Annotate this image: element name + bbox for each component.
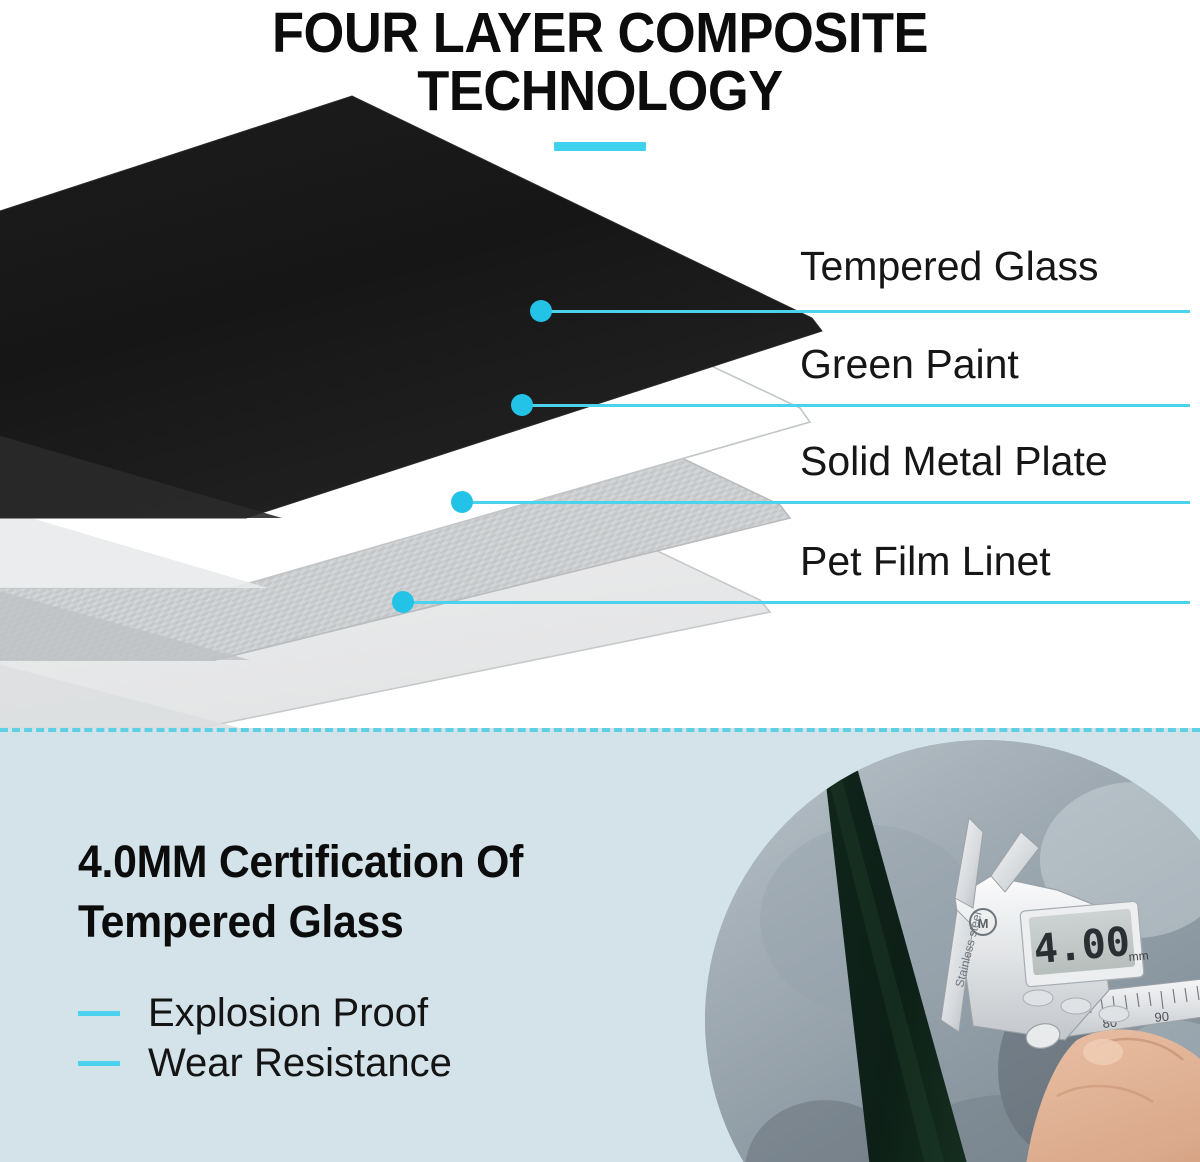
callout-dot-1: [530, 300, 552, 322]
certification-section: 4.0MM Certification Of Tempered Glass Ex…: [0, 728, 1200, 1162]
certification-heading-line-2: Tempered Glass: [78, 892, 667, 952]
feature-list: Explosion Proof Wear Resistance: [78, 988, 698, 1088]
callout-label-3: Solid Metal Plate: [800, 438, 1108, 484]
feature-item: Explosion Proof: [78, 988, 698, 1038]
callout-leader-line-1: [541, 310, 1190, 313]
callout-leader-line-4: [403, 601, 1190, 604]
certification-heading-line-1: 4.0MM Certification Of: [78, 832, 667, 892]
callout-label-1: Tempered Glass: [800, 243, 1099, 289]
callout-dot-4: [392, 591, 414, 613]
callout-label-2: Green Paint: [800, 341, 1019, 387]
dashed-divider: [0, 728, 1200, 732]
caliper-reading-value: 4.00: [1032, 919, 1132, 973]
callout-dot-3: [451, 491, 473, 513]
caliper-photo: 80 90 100 M Stainless steel: [705, 740, 1200, 1162]
product-infographic: FOUR LAYER COMPOSITE TECHNOLOGY Tempered…: [0, 0, 1200, 1162]
dash-marker-icon: [78, 1061, 120, 1066]
feature-label-2: Wear Resistance: [148, 1040, 452, 1086]
feature-label-1: Explosion Proof: [148, 990, 428, 1036]
four-layer-section: FOUR LAYER COMPOSITE TECHNOLOGY Tempered…: [0, 0, 1200, 728]
layer-callouts: Tempered Glass Green Paint Solid Metal P…: [0, 0, 1200, 728]
certification-copy: 4.0MM Certification Of Tempered Glass Ex…: [78, 832, 698, 1088]
dash-marker-icon: [78, 1011, 120, 1016]
callout-label-4: Pet Film Linet: [800, 538, 1051, 584]
svg-text:90: 90: [1154, 1009, 1170, 1025]
callout-dot-2: [511, 394, 533, 416]
feature-item: Wear Resistance: [78, 1038, 698, 1088]
callout-leader-line-3: [462, 501, 1190, 504]
caliper-reading-unit: mm: [1128, 948, 1149, 964]
callout-leader-line-2: [522, 404, 1190, 407]
